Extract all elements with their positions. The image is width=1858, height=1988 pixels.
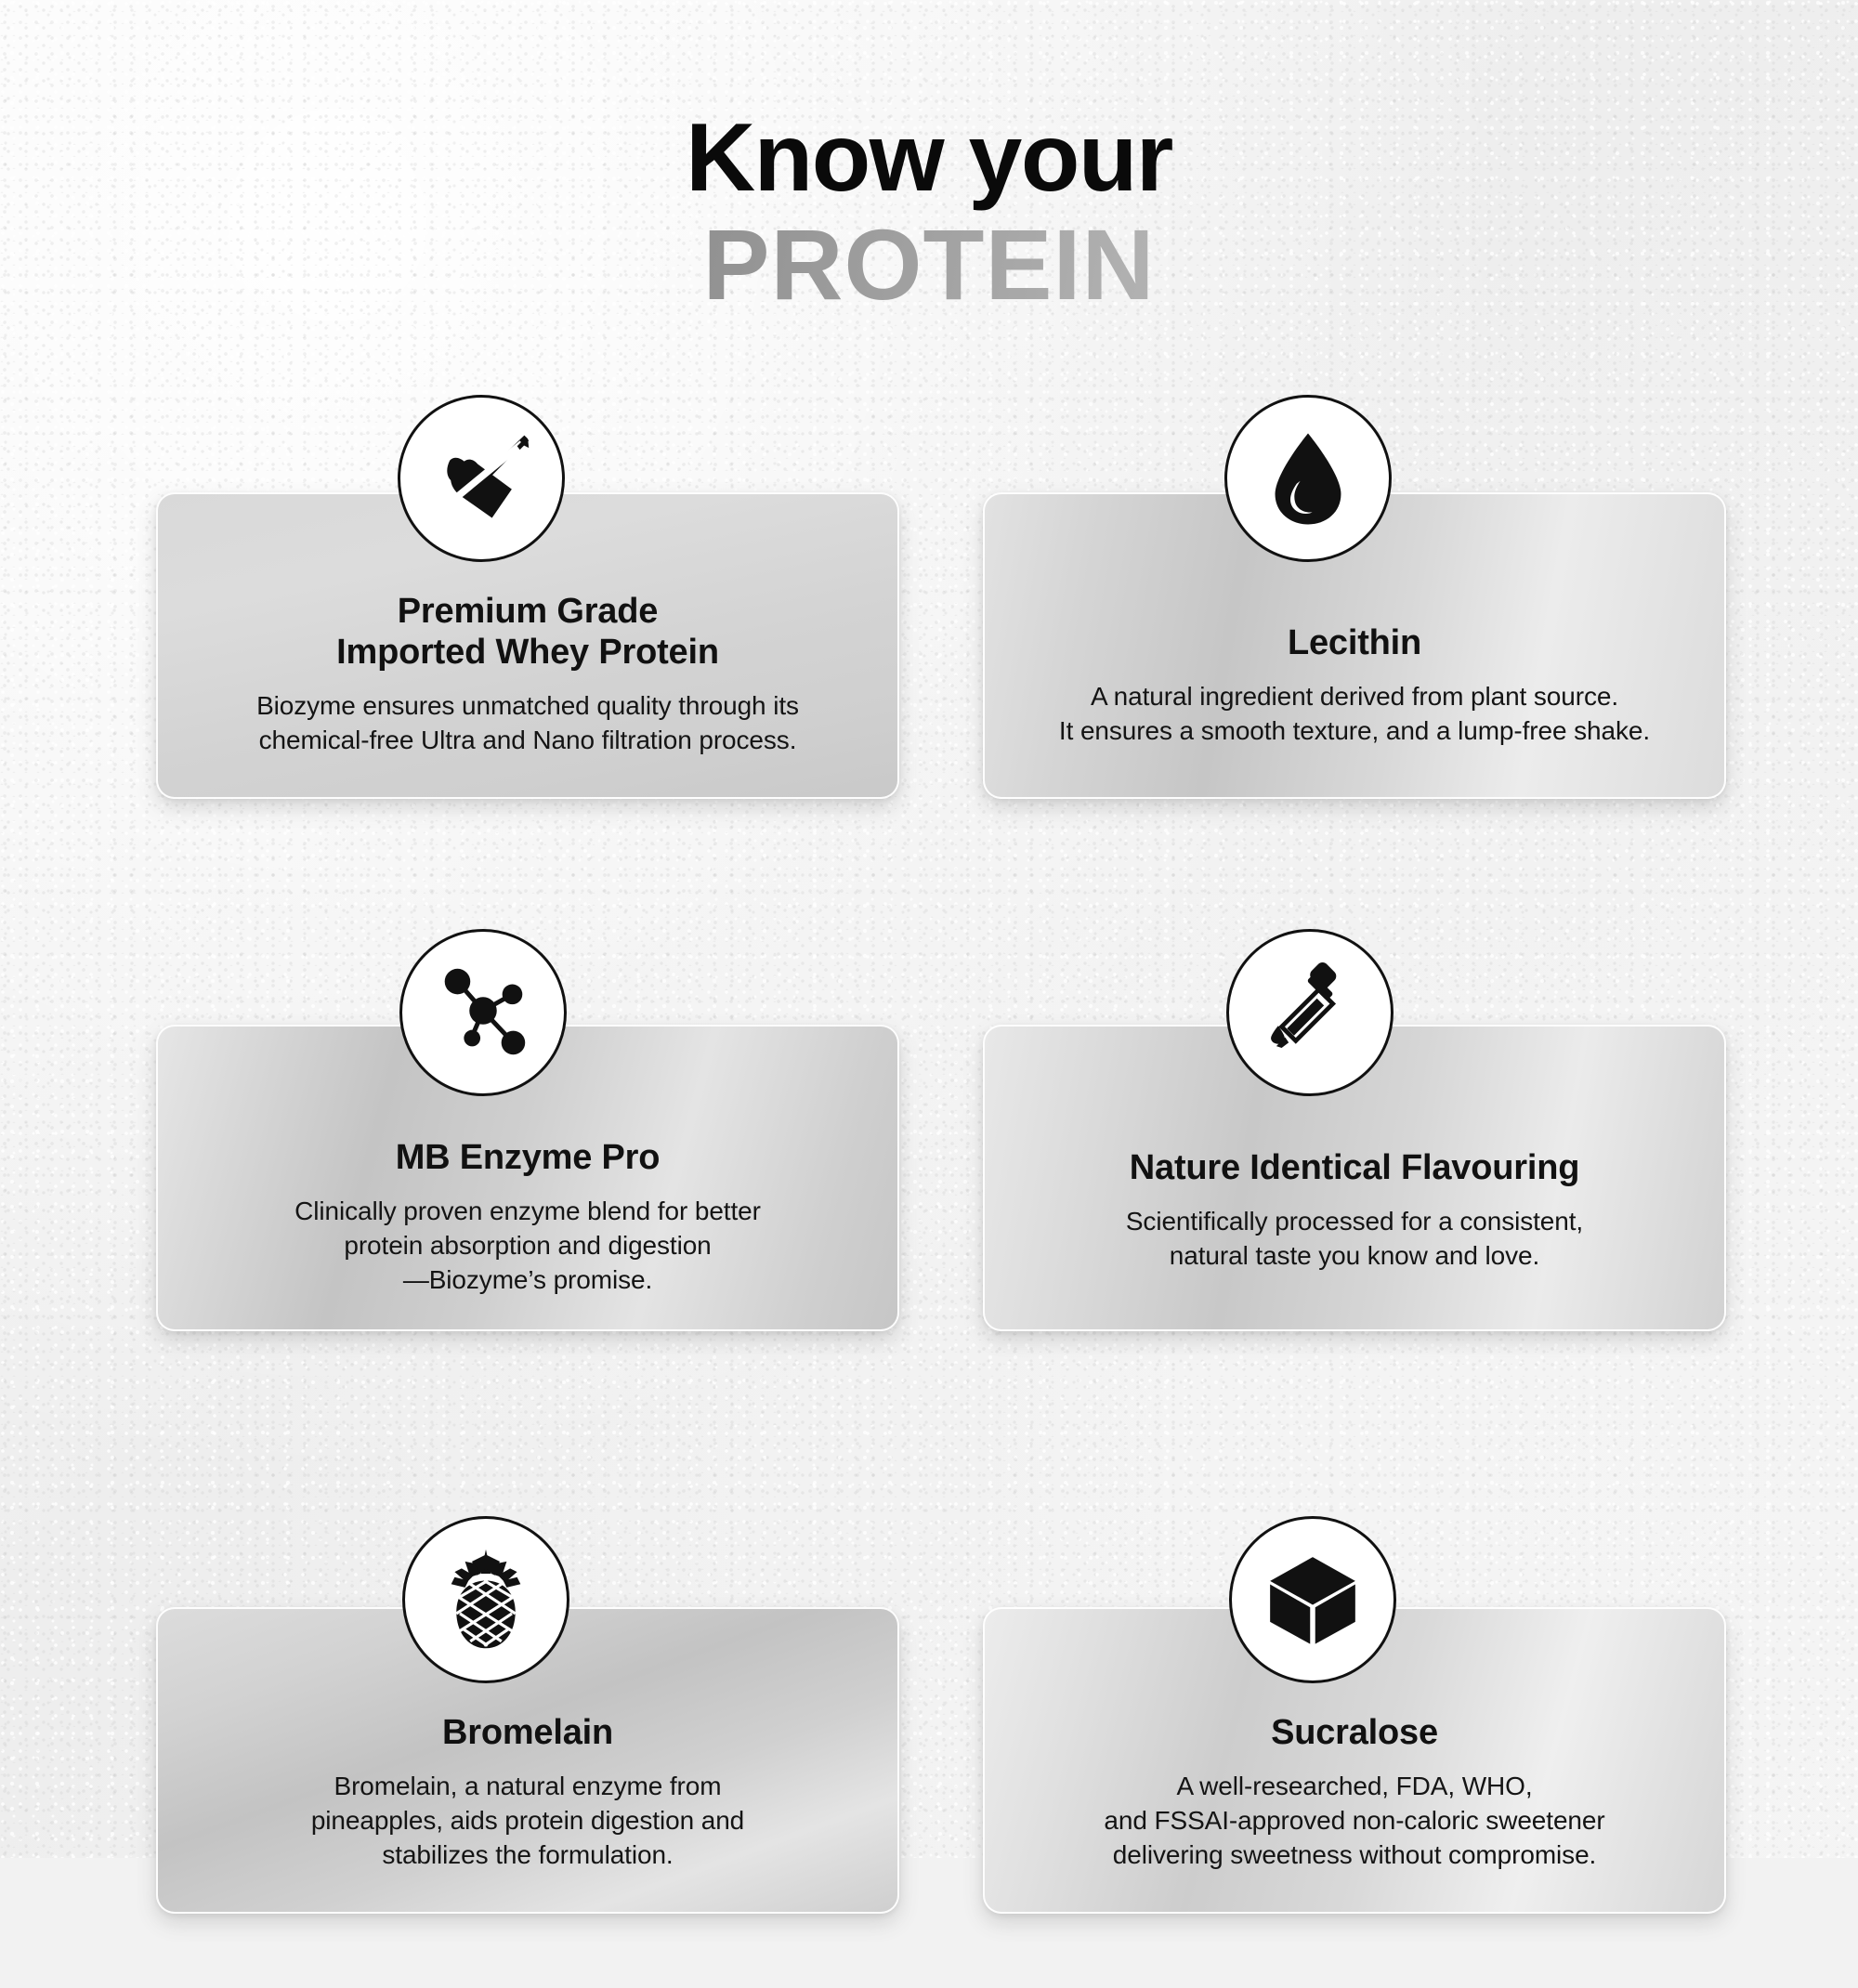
card-body: Biozyme ensures unmatched quality throug… <box>256 689 799 758</box>
ingredient-card-grid: Premium Grade Imported Whey Protein Bioz… <box>156 492 1726 1988</box>
card-title: Premium Grade Imported Whey Protein <box>336 591 719 673</box>
scoop-icon <box>398 395 565 562</box>
card-body: A natural ingredient derived from plant … <box>1059 680 1650 749</box>
card-title: Bromelain <box>442 1712 613 1753</box>
card-body: Clinically proven enzyme blend for bette… <box>294 1195 761 1298</box>
sugar-cube-icon <box>1229 1516 1396 1683</box>
card-body: Scientifically processed for a consisten… <box>1126 1205 1583 1274</box>
card-title: Nature Identical Flavouring <box>1130 1147 1579 1188</box>
ingredient-cell-premium-grade: Premium Grade Imported Whey Protein Bioz… <box>156 492 899 938</box>
ingredient-cell-lecithin: Lecithin A natural ingredient derived fr… <box>983 492 1726 938</box>
ingredient-cell-mb-enzyme-pro: MB Enzyme Pro Clinically proven enzyme b… <box>156 994 899 1440</box>
dropper-icon <box>1226 929 1393 1096</box>
infographic-page: Know your PROTEIN Premium Grade Imported… <box>0 0 1858 1858</box>
card-title: MB Enzyme Pro <box>396 1137 661 1178</box>
ingredient-cell-sucralose: Sucralose A well-researched, FDA, WHO, a… <box>983 1542 1726 1988</box>
water-drop-icon <box>1224 395 1392 562</box>
ingredient-cell-nature-identical-flavouring: Nature Identical Flavouring Scientifical… <box>983 994 1726 1440</box>
pineapple-icon <box>402 1516 569 1683</box>
card-body: Bromelain, a natural enzyme from pineapp… <box>311 1770 744 1873</box>
card-title: Lecithin <box>1288 622 1421 663</box>
molecule-icon <box>399 929 567 1096</box>
page-title: Know your PROTEIN <box>0 110 1858 318</box>
ingredient-cell-bromelain: Bromelain Bromelain, a natural enzyme fr… <box>156 1542 899 1988</box>
page-title-line1: Know your <box>0 110 1858 206</box>
page-title-line2: PROTEIN <box>0 212 1858 318</box>
card-body: A well-researched, FDA, WHO, and FSSAI-a… <box>1104 1770 1604 1873</box>
card-title: Sucralose <box>1271 1712 1438 1753</box>
